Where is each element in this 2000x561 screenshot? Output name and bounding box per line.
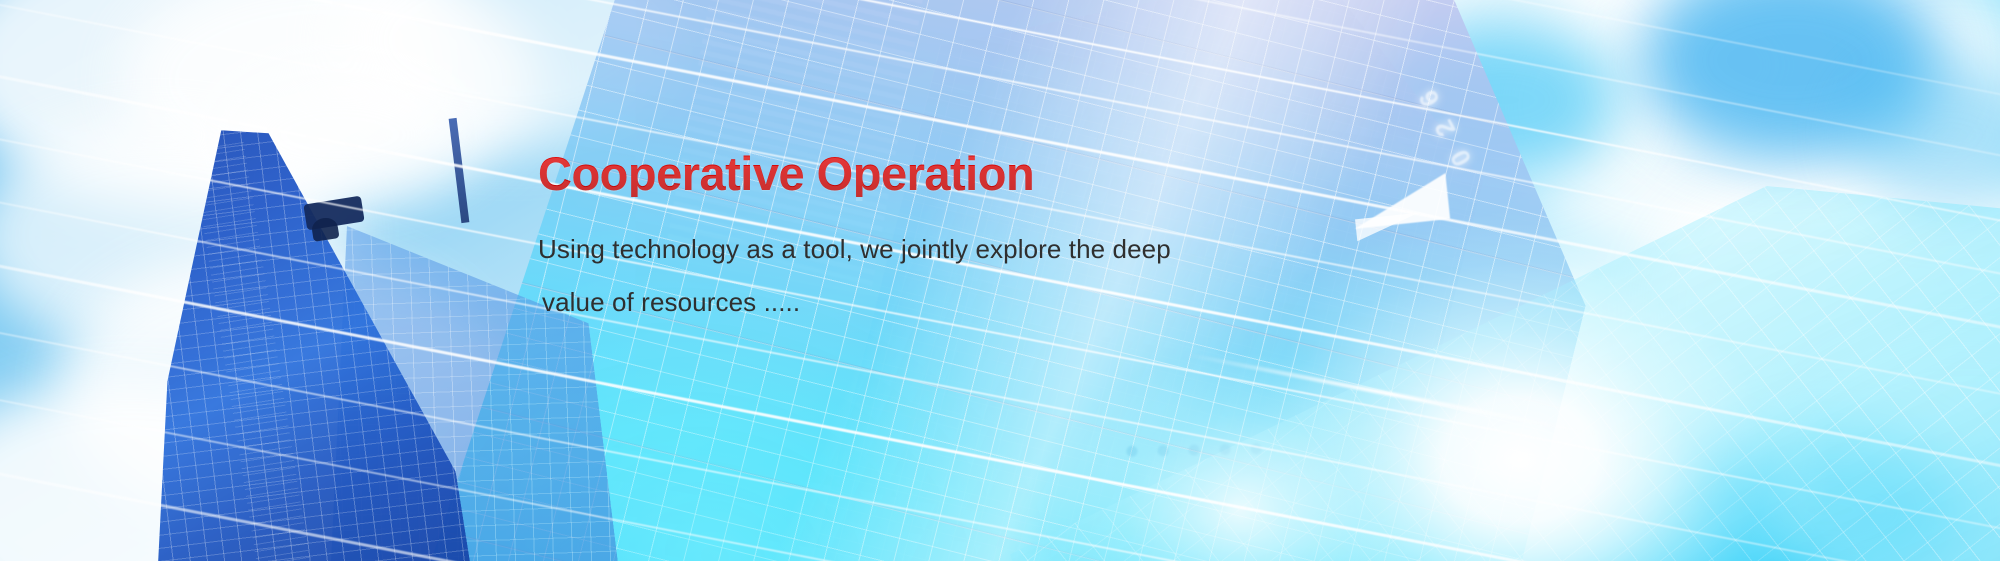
subtitle-line-1: Using technology as a tool, we jointly e… [538, 223, 1438, 276]
hero-banner: 0 2 6 Cooperative Operation Using techno… [0, 0, 2000, 561]
secondary-glow [980, 300, 1500, 561]
banner-subtitle: Using technology as a tool, we jointly e… [538, 197, 1438, 330]
page-title: Cooperative Operation [538, 150, 1438, 197]
banner-copy: Cooperative Operation Using technology a… [538, 150, 1438, 330]
subtitle-line-2: value of resources ..... [538, 276, 1438, 329]
